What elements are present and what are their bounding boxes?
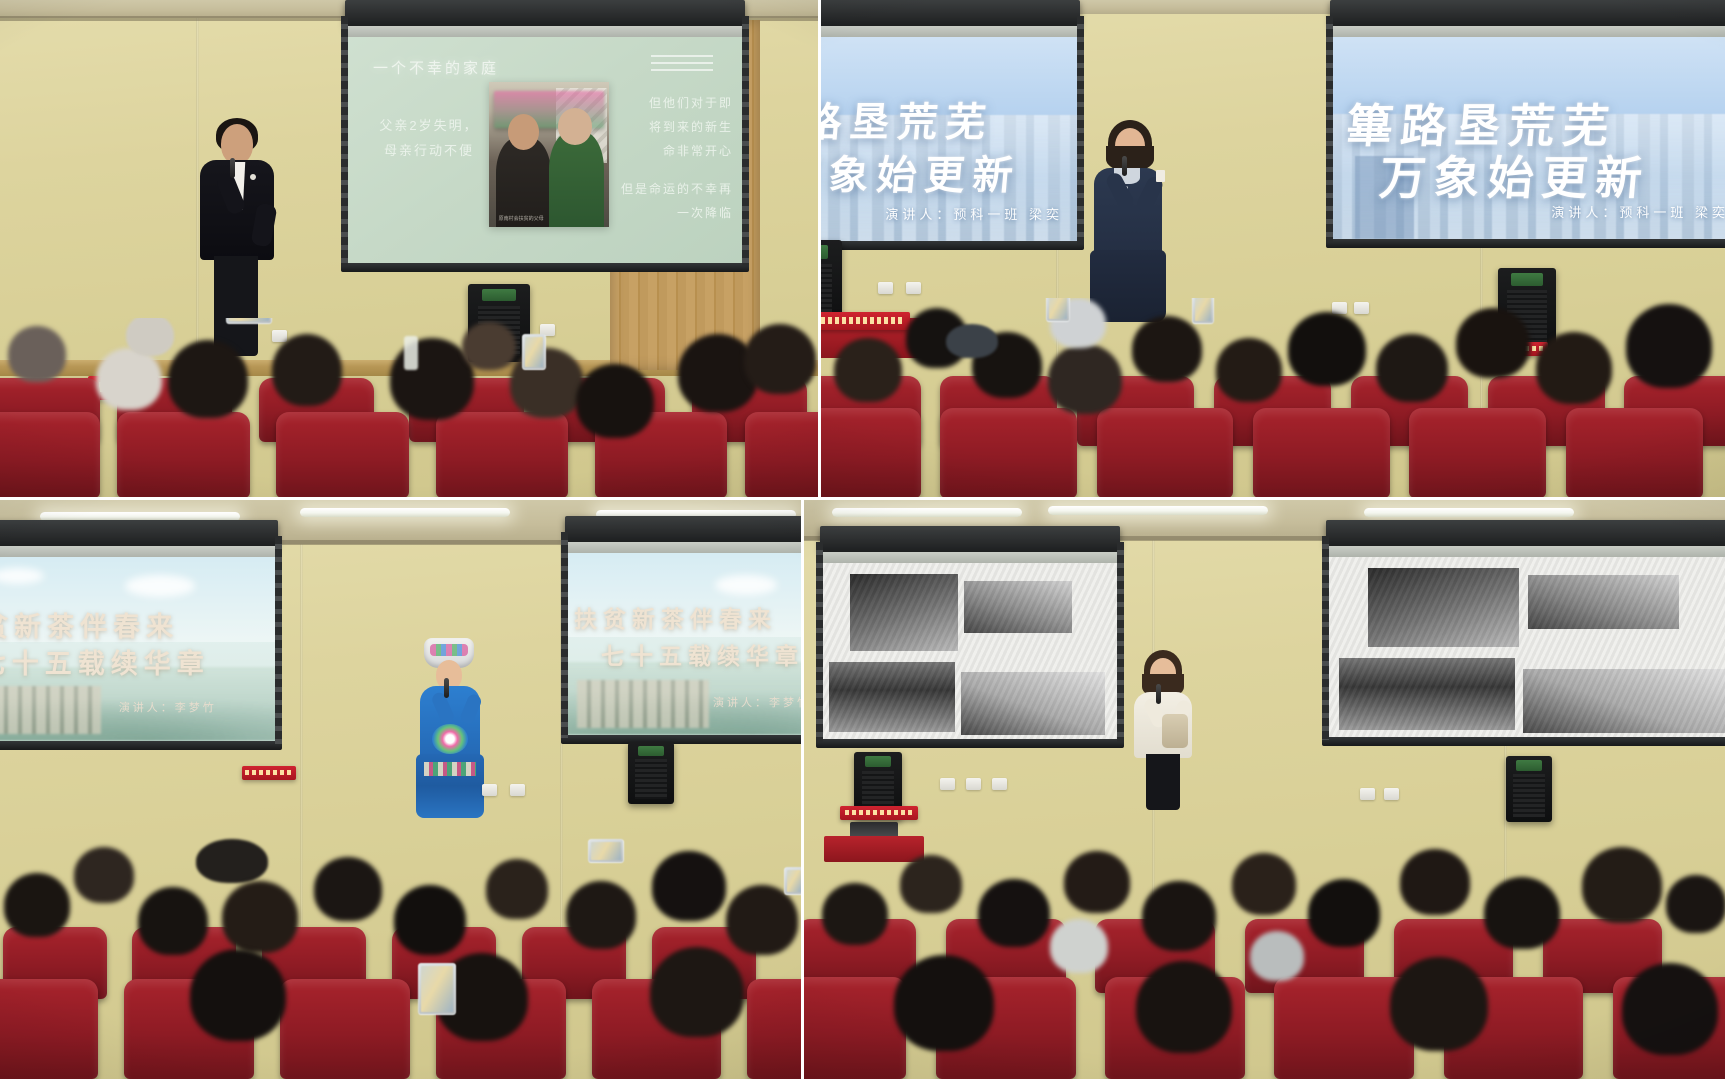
slide-title-tea: 扶贫新茶伴春来 七十五载续华章 演讲人：李梦竹: [0, 557, 278, 741]
screen-case: [345, 0, 745, 26]
screen-surface: 扶贫新茶伴春来 七十五载续华章 演讲人：李梦竹: [565, 553, 802, 735]
speaker-female-ethnic: [410, 638, 490, 818]
lapel-pin: [250, 174, 256, 180]
embroidery-medallion: [432, 724, 468, 754]
audience-head: [96, 348, 162, 410]
audience-head: [744, 324, 816, 394]
smartphone: [784, 867, 802, 895]
water-bottle: [404, 336, 418, 370]
projection-screen: 一个不幸的家庭 父亲2岁失明， 母亲行动不便 但他们对于即 将到来的新生 命非常…: [345, 0, 745, 272]
projection-screen-left: [820, 526, 1120, 748]
screen-bottom-bar: [341, 263, 749, 272]
audience: [0, 318, 818, 498]
smartphone: [226, 318, 272, 324]
slide-rule-lines: [651, 55, 713, 76]
cue-card: [1156, 170, 1165, 182]
projection-screen-left: 扶贫新茶伴春来 七十五载续华章 演讲人：李梦竹: [0, 520, 278, 750]
screen-surface: 一个不幸的家庭 父亲2岁失明， 母亲行动不便 但他们对于即 将到来的新生 命非常…: [345, 37, 745, 263]
slide-photo-montage-2: [1326, 557, 1725, 737]
smartphone: [418, 963, 456, 1015]
slide-photo: 原南村会扶贫的父母: [489, 82, 609, 227]
panel-bottom-left: 扶贫新茶伴春来 七十五载续华章 演讲人：李梦竹 扶贫新茶伴春来 七十五载续华章 …: [0, 500, 802, 1079]
slide-right-text-top: 但他们对于即 将到来的新生 命非常开心: [613, 91, 733, 163]
screen-surface: 篳路垦荒芜 万象始更新 演讲人：预科一班 梁奕: [820, 37, 1080, 241]
screen-surface: [1326, 557, 1725, 737]
wall-banner: [242, 766, 296, 780]
collage-gutter: [0, 497, 1725, 500]
slide-photo-caption: 原南村会扶贫的父母: [499, 215, 544, 222]
loudspeaker: [1506, 756, 1552, 822]
slide-photo-montage: [820, 563, 1120, 739]
screen-side-rail: [742, 16, 749, 266]
audience-head: [576, 364, 654, 438]
slide-title-tea-2: 扶贫新茶伴春来 七十五载续华章 演讲人：李梦竹: [565, 553, 802, 735]
slide-line1: 篳路垦荒芜: [820, 90, 996, 148]
panel-bottom-right: [804, 500, 1725, 1079]
slide-line1: 扶贫新茶伴春来: [0, 605, 179, 644]
slide-line2: 七十五载续华章: [601, 637, 802, 671]
wall-banner: [840, 806, 918, 820]
slide-title-blue-2: 篳路垦荒芜 万象始更新 演讲人：预科一班 梁奕: [1330, 37, 1725, 239]
slide-line2: 七十五载续华章: [0, 642, 210, 681]
slide-byline: 演讲人：预科一班 梁奕: [885, 204, 1063, 223]
audience: [804, 819, 1725, 1079]
screen-surface: [820, 563, 1120, 739]
slide-byline: 演讲人：李梦竹: [713, 694, 802, 710]
smartphone: [522, 334, 546, 370]
ceiling-light: [832, 508, 1022, 517]
collage-gutter: [818, 0, 821, 500]
ceiling-light: [1364, 508, 1574, 517]
slide-title-blue: 篳路垦荒芜 万象始更新 演讲人：预科一班 梁奕: [820, 37, 1080, 241]
projection-screen-right: 篳路垦荒芜 万象始更新 演讲人：预科一班 梁奕: [1330, 0, 1725, 248]
shoulder-bag: [1162, 714, 1188, 748]
audience: [0, 829, 802, 1079]
slide-byline: 演讲人：预科一班 梁奕: [1551, 202, 1725, 221]
audience-head: [8, 326, 66, 382]
loudspeaker: [628, 742, 674, 804]
audience-head: [462, 322, 516, 370]
slide-left-text: 父亲2岁失明， 母亲行动不便: [369, 114, 489, 163]
screen-side-rail: [341, 16, 348, 266]
audience: [820, 298, 1725, 498]
screen-surface: 篳路垦荒芜 万象始更新 演讲人：预科一班 梁奕: [1330, 37, 1725, 239]
panel-top-right: 篳路垦荒芜 万象始更新 演讲人：预科一班 梁奕 篳路垦荒芜 万象始更新 演讲人：…: [820, 0, 1725, 498]
audience-head: [272, 334, 342, 406]
projection-screen-right: [1326, 520, 1725, 746]
speaker-female-navy: [1082, 120, 1172, 320]
slide-right-text-bottom: 但是命运的不幸再 一次降临: [605, 177, 733, 225]
audience-head: [168, 340, 248, 418]
slide-line1: 扶贫新茶伴春来: [574, 600, 777, 634]
audience-cap: [196, 839, 268, 883]
panel-top-left: 一个不幸的家庭 父亲2岁失明， 母亲行动不便 但他们对于即 将到来的新生 命非常…: [0, 0, 818, 498]
slide-line2: 万象始更新: [820, 143, 1023, 201]
screen-rail: [345, 26, 745, 37]
slide-byline: 演讲人：李梦竹: [119, 699, 217, 715]
audience-head: [126, 318, 174, 356]
projection-screen-left: 篳路垦荒芜 万象始更新 演讲人：预科一班 梁奕: [820, 0, 1080, 250]
projection-screen-right: 扶贫新茶伴春来 七十五载续华章 演讲人：李梦竹: [565, 516, 802, 744]
ceiling-light: [300, 508, 510, 517]
photo-collage: 一个不幸的家庭 父亲2岁失明， 母亲行动不便 但他们对于即 将到来的新生 命非常…: [0, 0, 1725, 1079]
slide-title: 一个不幸的家庭: [373, 57, 499, 78]
slide-story: 一个不幸的家庭 父亲2岁失明， 母亲行动不便 但他们对于即 将到来的新生 命非常…: [345, 37, 745, 263]
smartphone: [588, 839, 624, 863]
speaker-female-cream: [1122, 650, 1202, 810]
slide-line2: 万象始更新: [1378, 142, 1654, 208]
screen-surface: 扶贫新茶伴春来 七十五载续华章 演讲人：李梦竹: [0, 557, 278, 741]
audience-cap: [946, 324, 998, 358]
ceiling-light: [1048, 506, 1268, 515]
collage-gutter: [801, 500, 804, 1079]
